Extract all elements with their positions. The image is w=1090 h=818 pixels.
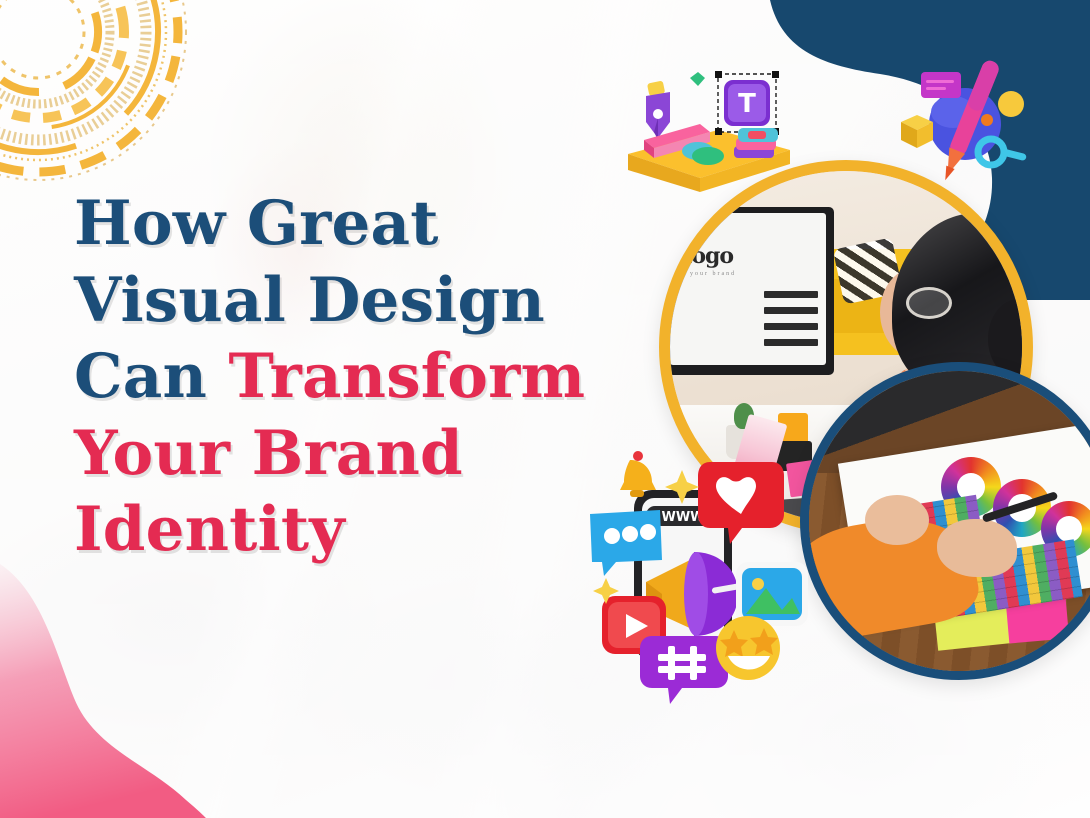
eyeglasses-icon (906, 287, 952, 319)
star-struck-emoji-icon (716, 616, 780, 680)
design-tools-3d-cluster: T (614, 62, 814, 192)
screen-bar-2 (764, 307, 818, 314)
card-icon (921, 72, 961, 98)
headline-line-3-accent: Transform (228, 341, 585, 412)
headline-line-2: Visual Design (74, 263, 684, 340)
color-palette-hands-photo (800, 362, 1090, 680)
banner-canvas: How Great Visual Design Can Transform Yo… (0, 0, 1090, 818)
hud-arcs-icon (0, 0, 188, 182)
designer-hand-left (865, 495, 929, 545)
layers-stack-icon (734, 128, 778, 158)
pen-tool-icon (646, 80, 670, 140)
screen-logo-subtext: your brand (690, 271, 736, 277)
screen-logo-text: logo (684, 243, 733, 269)
creative-objects-3d-cluster (895, 60, 1035, 200)
text-tool-icon: T (715, 71, 779, 135)
dot-icon (981, 114, 993, 126)
palette-photo-content (809, 371, 1090, 671)
headline-line-1: How Great (74, 186, 684, 263)
screen-bar-1 (764, 291, 818, 298)
hashtag-icon (640, 636, 728, 704)
pink-wave-decoration (0, 558, 250, 818)
text-tool-glyph: T (738, 89, 756, 119)
gem-icon (690, 72, 705, 86)
ball-icon (998, 91, 1024, 117)
monitor: logo your brand (664, 207, 834, 375)
monitor-screen: logo your brand (670, 213, 826, 365)
screen-bar-4 (764, 339, 818, 346)
headline-line-3-prefix: Can (74, 341, 228, 412)
designer-hand-right (937, 519, 1017, 577)
cube-icon (901, 115, 933, 148)
screen-bar-3 (764, 323, 818, 330)
social-media-3d-cluster: WWW (586, 448, 816, 694)
headline-line-3: Can Transform (74, 339, 684, 416)
